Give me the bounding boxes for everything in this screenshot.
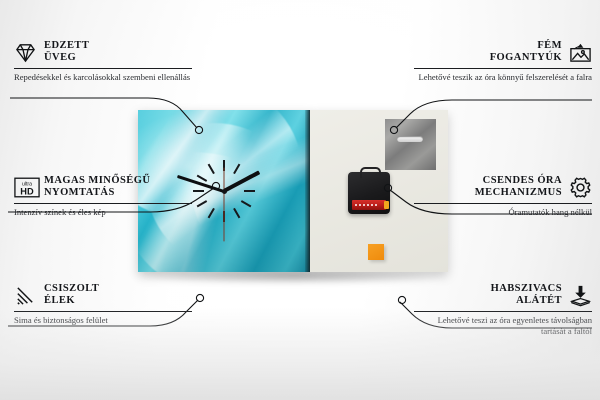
clock-center-cap — [222, 189, 227, 194]
feature-edzett-uveg: EDZETT ÜVEG Repedésekkel és karcolásokka… — [14, 40, 192, 83]
battery-plus-terminal — [384, 201, 389, 209]
feature-title-line2: ÉLEK — [44, 295, 75, 306]
mechanism-loop — [360, 167, 381, 178]
gear-icon — [569, 176, 592, 199]
feature-header: CSENDES ÓRA MECHANIZMUS — [414, 175, 592, 203]
feature-title-line2: ÜVEG — [44, 52, 76, 63]
feature-header: ultra HD MAGAS MINŐSÉGŰ NYOMTATÁS — [14, 175, 192, 203]
feature-description: Óramutatók hang nélkül — [414, 204, 592, 219]
foam-pad — [368, 244, 384, 260]
feature-title-line1: HABSZIVACS — [491, 283, 562, 294]
feature-description: Lehetővé teszik az óra könnyű felszerelé… — [414, 69, 592, 84]
ultra-hd-icon: ultra HD — [14, 176, 37, 199]
hanger-slot — [397, 136, 423, 142]
feature-description: Sima és biztonságos felület — [14, 312, 192, 327]
feature-description: Lehetővé teszi az óra egyenletes távolsá… — [414, 312, 592, 338]
diamond-icon — [14, 41, 37, 64]
feature-description: Intenzív színek és éles kép — [14, 204, 192, 219]
clock-mechanism — [348, 172, 390, 214]
feature-fem-fogantyuk: FÉM FOGANTYÚK Lehetővé teszik az óra kön… — [414, 40, 592, 83]
metal-hanger — [385, 119, 436, 170]
feature-title-line2: MECHANIZMUS — [475, 187, 562, 198]
feature-header: FÉM FOGANTYÚK — [414, 40, 592, 68]
clock-hand-second — [224, 191, 225, 241]
foam-pad-icon — [569, 284, 592, 307]
feature-header: EDZETT ÜVEG — [14, 40, 192, 68]
feature-csendes-ora-mechanizmus: CSENDES ÓRA MECHANIZMUS Óramutatók hang … — [414, 175, 592, 218]
feature-title-line1: EDZETT — [44, 40, 89, 51]
product-feature-infographic: EDZETT ÜVEG Repedésekkel és karcolásokka… — [0, 0, 600, 400]
battery — [352, 200, 386, 210]
feature-csiszolt-elek: CSISZOLT ÉLEK Sima és biztonságos felüle… — [14, 283, 192, 326]
ultra-hd-bottom: HD — [20, 186, 34, 196]
feature-title-line1: FÉM — [537, 40, 562, 51]
feature-divider — [414, 311, 592, 312]
feature-title-line2: NYOMTATÁS — [44, 187, 115, 198]
battery-label — [355, 204, 378, 206]
feature-title-line1: CSISZOLT — [44, 283, 99, 294]
feature-magas-minosegu-nyomtatas: ultra HD MAGAS MINŐSÉGŰ NYOMTATÁS Intenz… — [14, 175, 192, 218]
feature-header: HABSZIVACS ALÁTÉT — [414, 283, 592, 311]
feature-header: CSISZOLT ÉLEK — [14, 283, 192, 311]
polished-edges-icon — [14, 284, 37, 307]
feature-habszivacs-alatet: HABSZIVACS ALÁTÉT Lehetővé teszi az óra … — [414, 283, 592, 338]
feature-title-line2: FOGANTYÚK — [490, 52, 562, 63]
feature-description: Repedésekkel és karcolásokkal szembeni e… — [14, 69, 192, 84]
picture-hanger-icon — [569, 41, 592, 64]
feature-title-line2: ALÁTÉT — [516, 295, 562, 306]
feature-title-line1: CSENDES ÓRA — [483, 175, 562, 186]
feature-divider — [14, 311, 192, 312]
feature-title-line1: MAGAS MINŐSÉGŰ — [44, 175, 150, 186]
